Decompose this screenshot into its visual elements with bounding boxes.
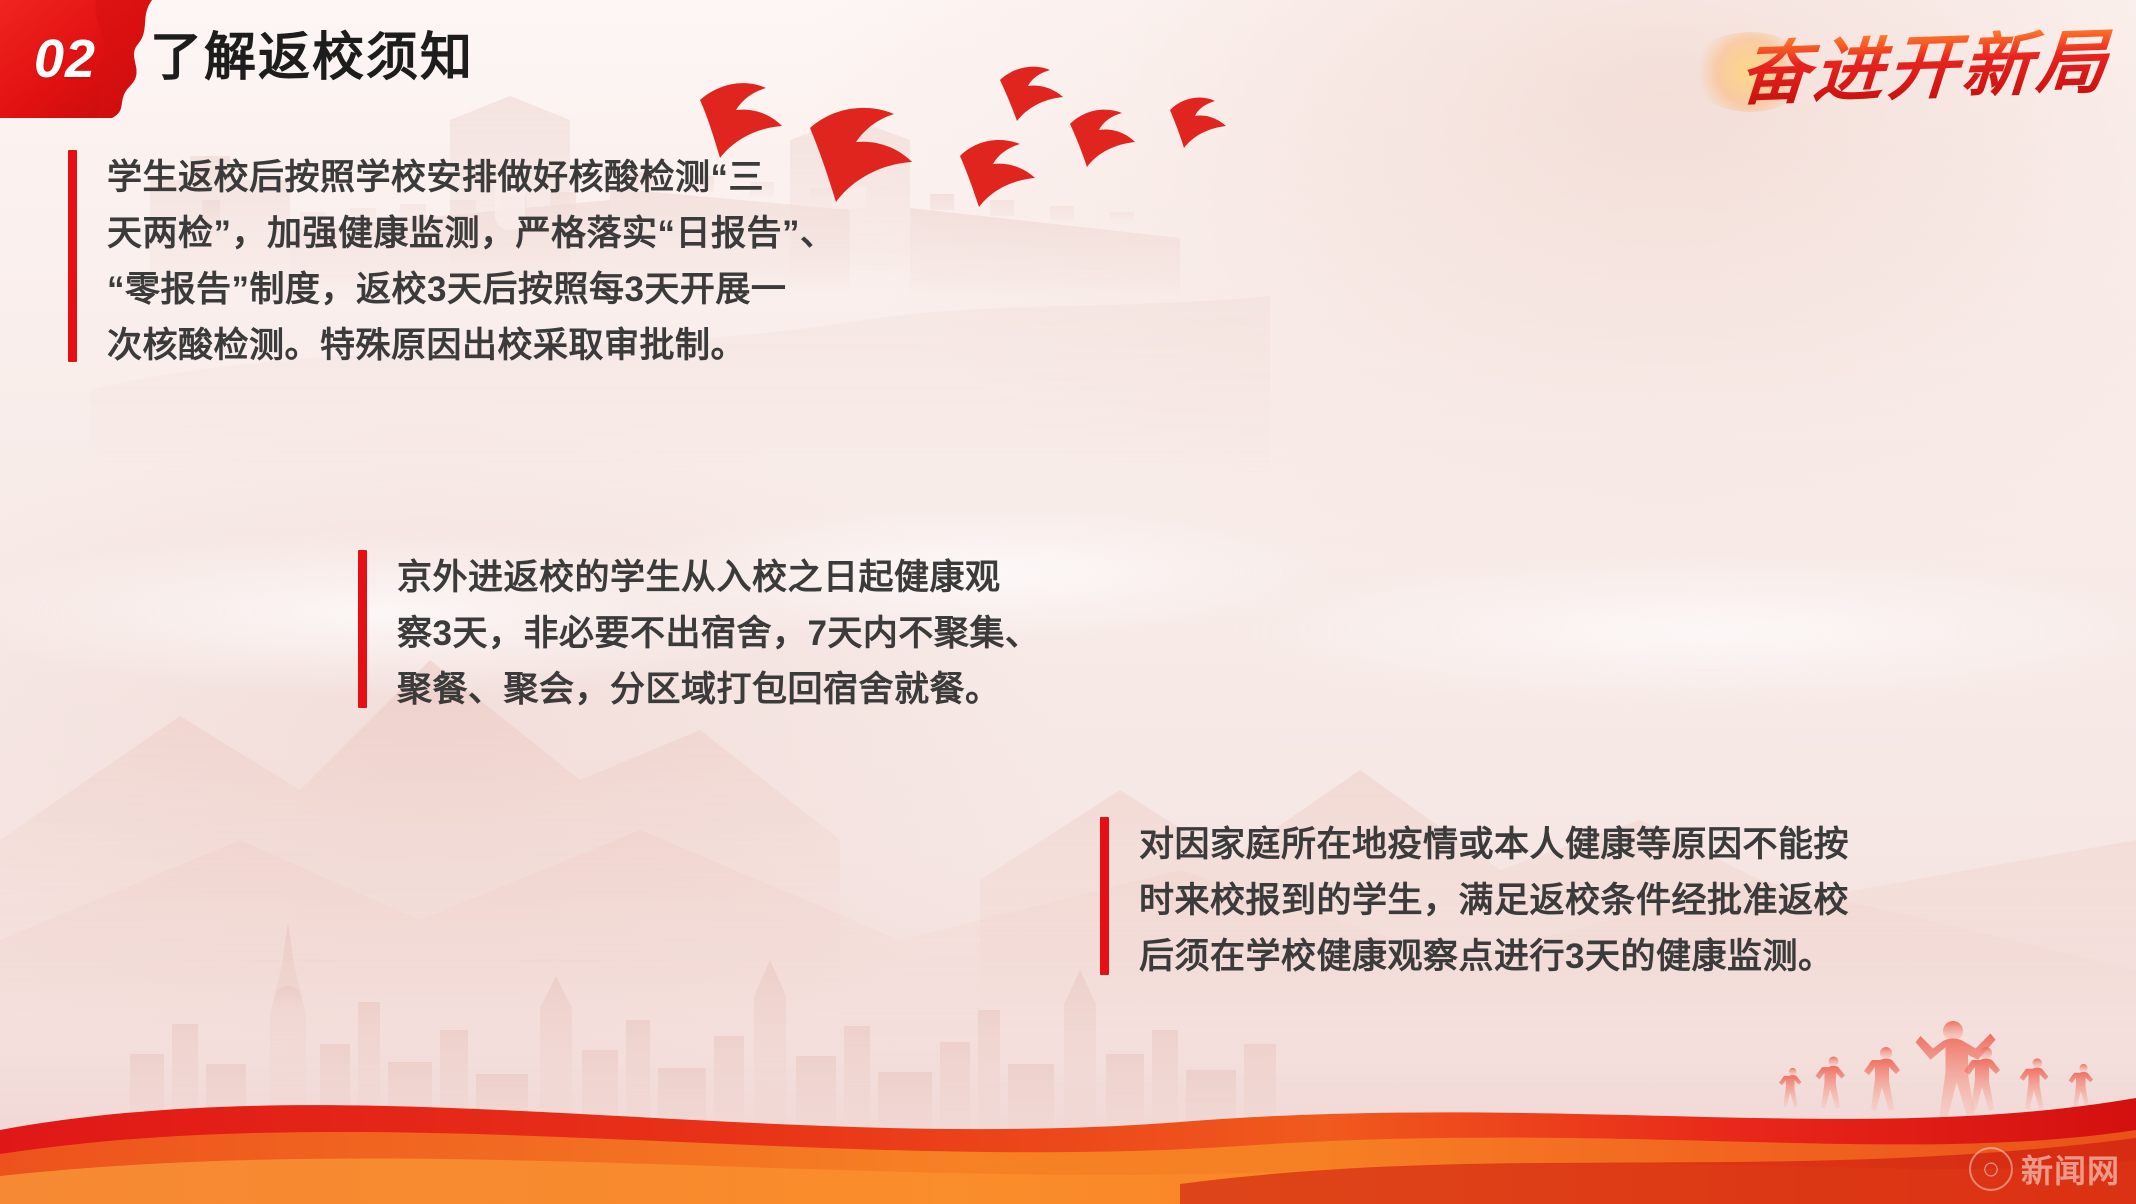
- watermark-badge-icon: 〇: [1969, 1147, 2013, 1191]
- watermark-text: 新闻网: [2021, 1146, 2120, 1192]
- info-block-3: 对因家庭所在地疫情或本人健康等原因不能按 时来校报到的学生，满足返校条件经批准返…: [1100, 817, 1849, 975]
- calligraphy-logo-text: 奋进开新局: [1737, 27, 2113, 110]
- info-block-2: 京外进返校的学生从入校之日起健康观 察3天，非必要不出宿舍，7天内不聚集、 聚餐…: [358, 550, 1040, 708]
- calligraphy-logo: 奋进开新局: [1710, 14, 2110, 122]
- info-block-3-text: 对因家庭所在地疫情或本人健康等原因不能按 时来校报到的学生，满足返校条件经批准返…: [1109, 817, 1849, 975]
- site-watermark: 〇 新闻网: [1969, 1146, 2120, 1192]
- info-block-1: 学生返校后按照学校安排做好核酸检测“三 天两检”，加强健康监测，严格落实“日报告…: [68, 150, 836, 362]
- info-block-2-text: 京外进返校的学生从入校之日起健康观 察3天，非必要不出宿舍，7天内不聚集、 聚餐…: [367, 550, 1040, 708]
- accent-bar: [68, 150, 77, 362]
- section-number: 02: [34, 32, 96, 86]
- red-ribbon-wave: [0, 1034, 2136, 1204]
- info-block-1-text: 学生返校后按照学校安排做好核酸检测“三 天两检”，加强健康监测，严格落实“日报告…: [77, 150, 836, 362]
- accent-bar: [1100, 817, 1109, 975]
- accent-bar: [358, 550, 367, 708]
- slide-canvas: 02 了解返校须知 奋进开新局 学生返校后按照学校安排做好核酸检测“三 天两检”…: [0, 0, 2136, 1204]
- page-title: 了解返校须知: [150, 32, 474, 84]
